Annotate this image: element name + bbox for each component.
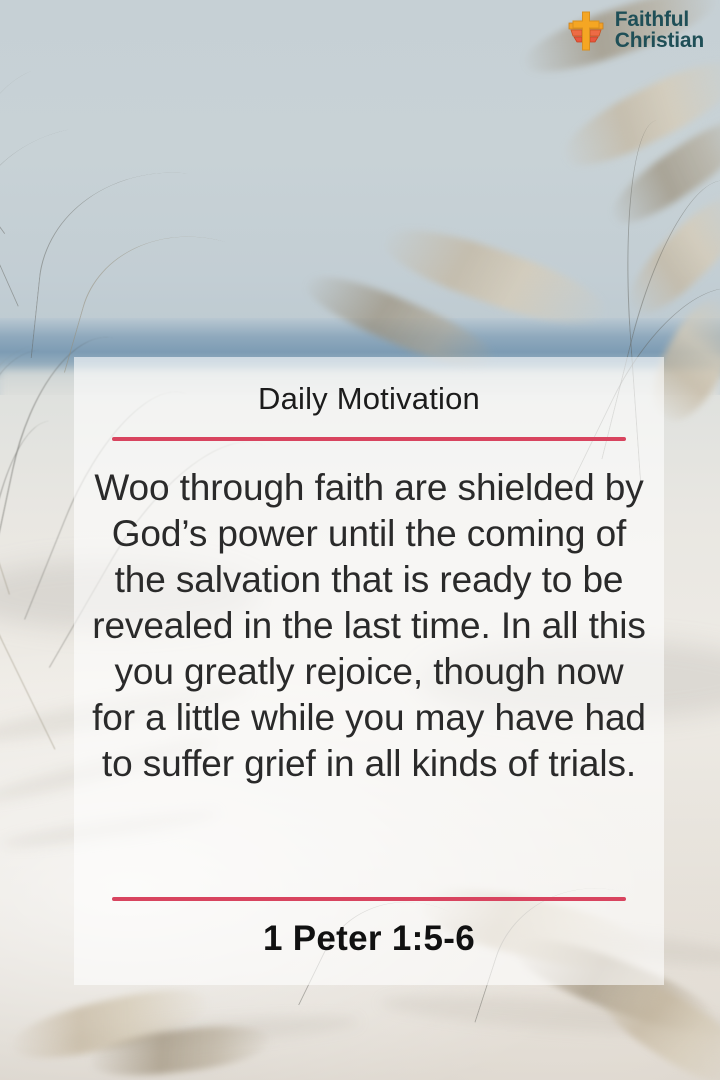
brand-name-line1: Faithful — [615, 10, 704, 31]
verse-text: Woo through faith are shielded by God’s … — [91, 465, 647, 787]
verse-reference: 1 Peter 1:5-6 — [263, 919, 475, 959]
cross-with-wings-icon — [566, 10, 606, 52]
divider-top — [112, 437, 626, 441]
card-title: Daily Motivation — [258, 381, 480, 417]
divider-bottom — [112, 897, 626, 901]
brand-name: Faithful Christian — [615, 10, 704, 51]
brand-name-line2: Christian — [615, 31, 704, 52]
poster-canvas: Faithful Christian Daily Motivation Woo … — [0, 0, 720, 1080]
verse-card: Daily Motivation Woo through faith are s… — [74, 357, 664, 985]
brand-logo[interactable]: Faithful Christian — [566, 10, 704, 52]
